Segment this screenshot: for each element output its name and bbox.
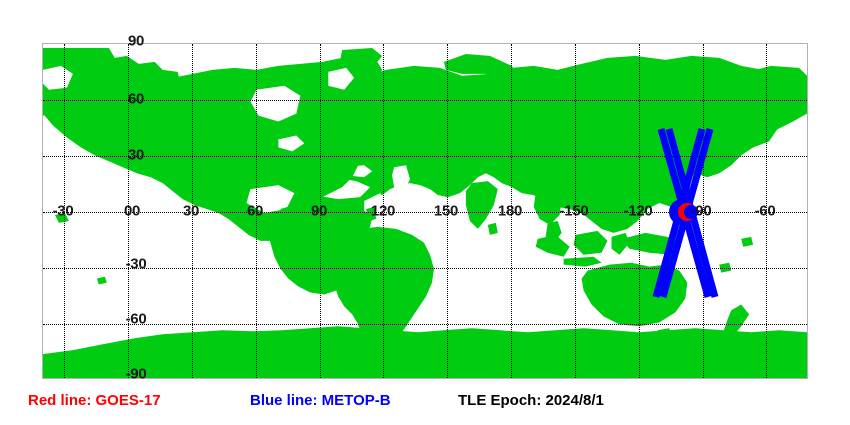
lon-tick-label-90: 90 [311, 203, 327, 220]
lon-tick-label-180: 180 [498, 203, 522, 220]
lon-tick-label-120: 120 [371, 203, 395, 220]
lon-tick-label-60: 60 [247, 203, 263, 220]
lon-tick-label-m150: -150 [560, 203, 589, 220]
lat-tick-label-90: 90 [128, 33, 144, 50]
lon-tick-label-150: 150 [434, 203, 458, 220]
lon-tick-label-0: 0 [124, 203, 132, 220]
satellite-ground-track-map: 90 60 30 0 -30 -60 -90 -30 0 30 60 90 12… [0, 0, 850, 425]
lon-tick-label-m30: -30 [53, 203, 74, 220]
lat-tick-label-m30: -30 [126, 256, 147, 273]
legend-blue-line-metopb: Blue line: METOP-B [250, 392, 391, 409]
lon-tick-label-m90: -90 [691, 203, 712, 220]
lon-tick-label-30: 30 [183, 203, 199, 220]
legend-red-line-goes17: Red line: GOES-17 [28, 392, 161, 409]
lat-tick-label-0: 0 [132, 203, 140, 220]
lat-tick-label-30: 30 [128, 147, 144, 164]
lon-tick-label-m60: -60 [755, 203, 776, 220]
lat-tick-label-m60: -60 [126, 311, 147, 328]
lat-tick-label-m90: -90 [126, 366, 147, 383]
legend-tle-epoch: TLE Epoch: 2024/8/1 [458, 392, 604, 409]
legend-bar: Red line: GOES-17 Blue line: METOP-B TLE… [0, 392, 850, 425]
lat-tick-label-60: 60 [128, 91, 144, 108]
lon-tick-label-m120: -120 [624, 203, 653, 220]
